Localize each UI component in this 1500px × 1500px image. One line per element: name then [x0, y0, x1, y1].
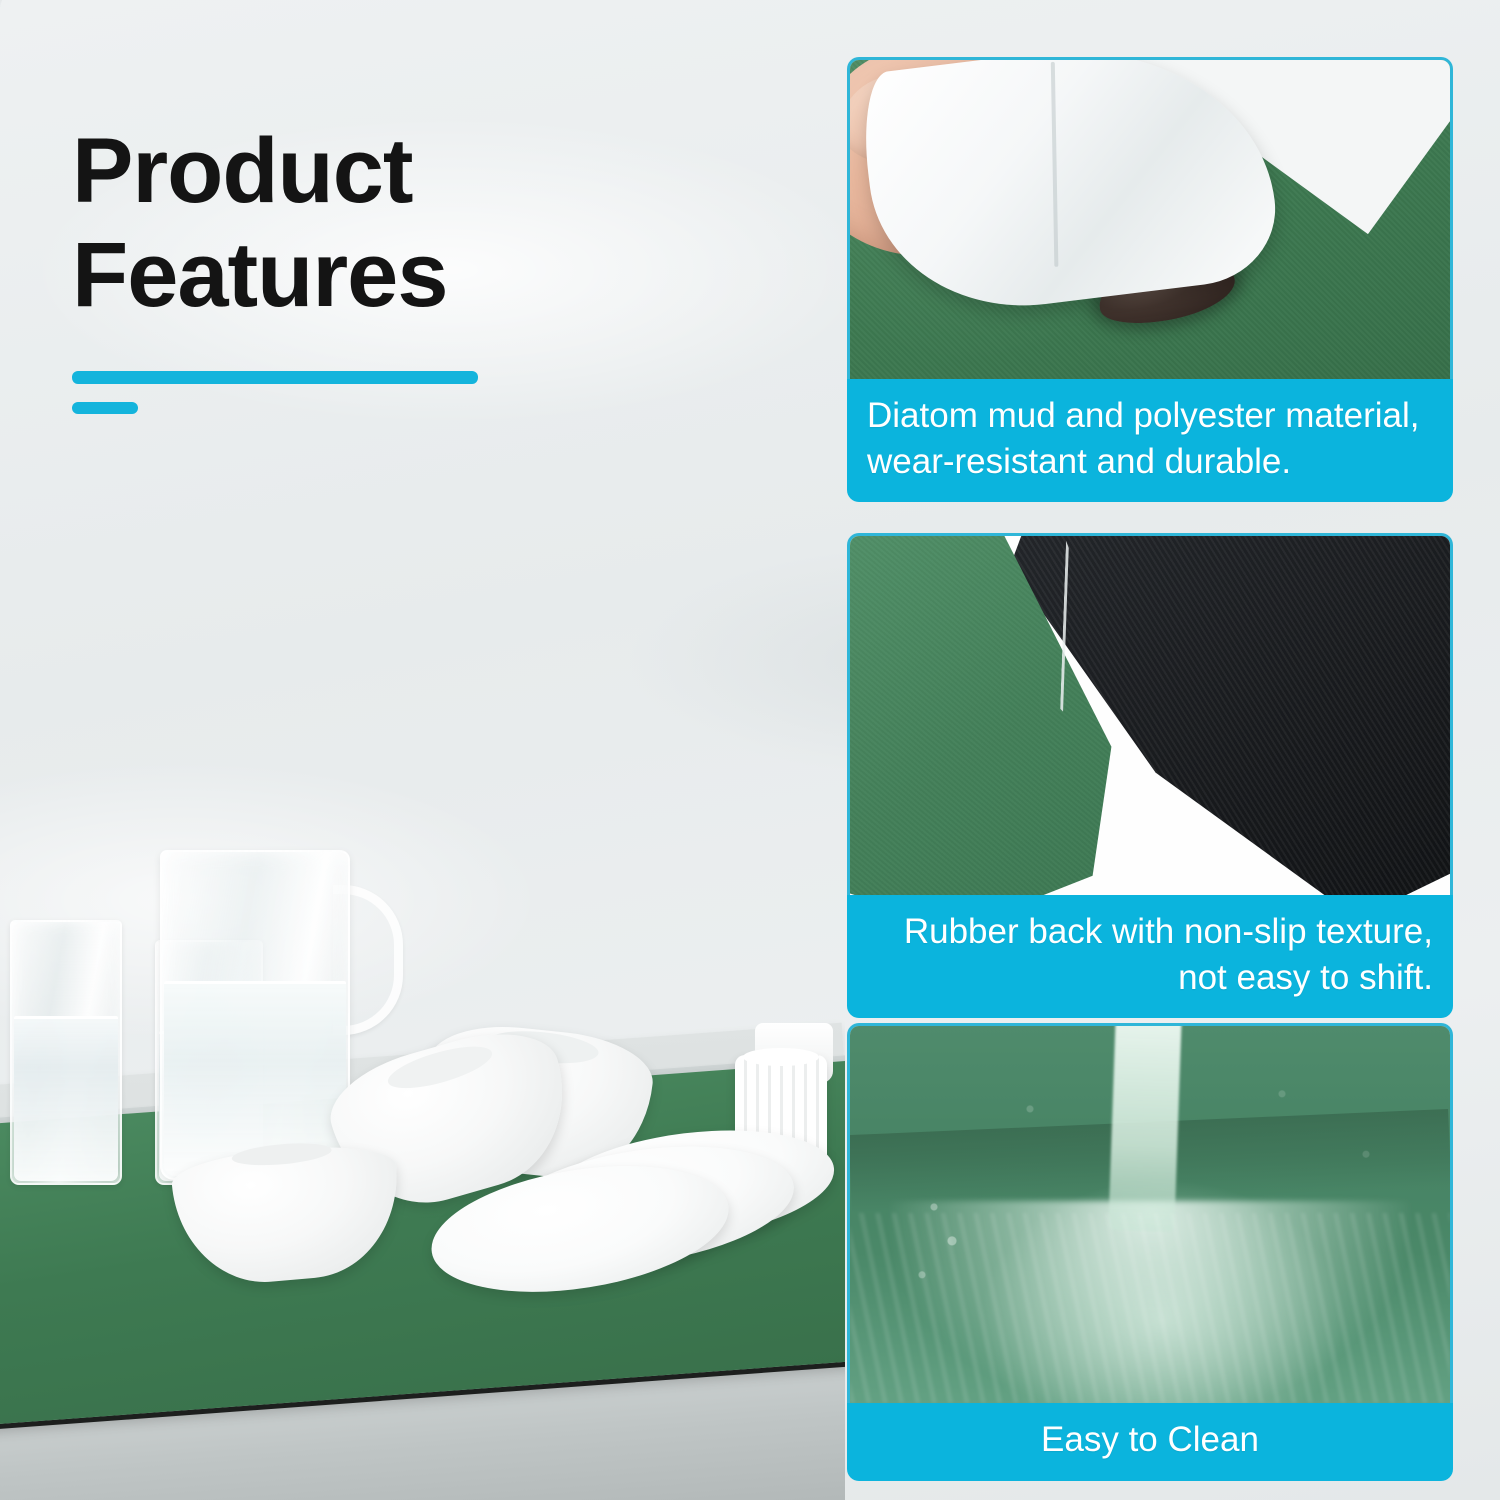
feature-caption-rubber-back: Rubber back with non-slip texture, not e… [847, 895, 1453, 1018]
feature-panel-rubber-back: Rubber back with non-slip texture, not e… [847, 533, 1453, 1018]
title-line-2: Features [72, 224, 448, 326]
water-flow [850, 1213, 1450, 1403]
hero-product-photo [0, 755, 845, 1500]
glass-water [14, 1016, 118, 1181]
water-stream [1108, 1023, 1181, 1232]
feature-panel-material: Diatom mud and polyester material, wear-… [847, 57, 1453, 502]
title-underline-long [72, 371, 478, 384]
feature-caption-easy-clean: Easy to Clean [847, 1403, 1453, 1481]
water-glass [10, 920, 122, 1185]
feature-image-material [847, 57, 1453, 379]
title-underline-short [72, 402, 138, 414]
page-title: Product Features [72, 120, 672, 328]
feature-image-easy-clean [847, 1023, 1453, 1403]
feature-image-rubber-back [847, 533, 1453, 895]
feature-panel-easy-clean: Easy to Clean [847, 1023, 1453, 1481]
title-line-1: Product [72, 120, 413, 222]
water-pitcher [160, 850, 350, 1180]
feature-caption-material: Diatom mud and polyester material, wear-… [847, 379, 1453, 502]
